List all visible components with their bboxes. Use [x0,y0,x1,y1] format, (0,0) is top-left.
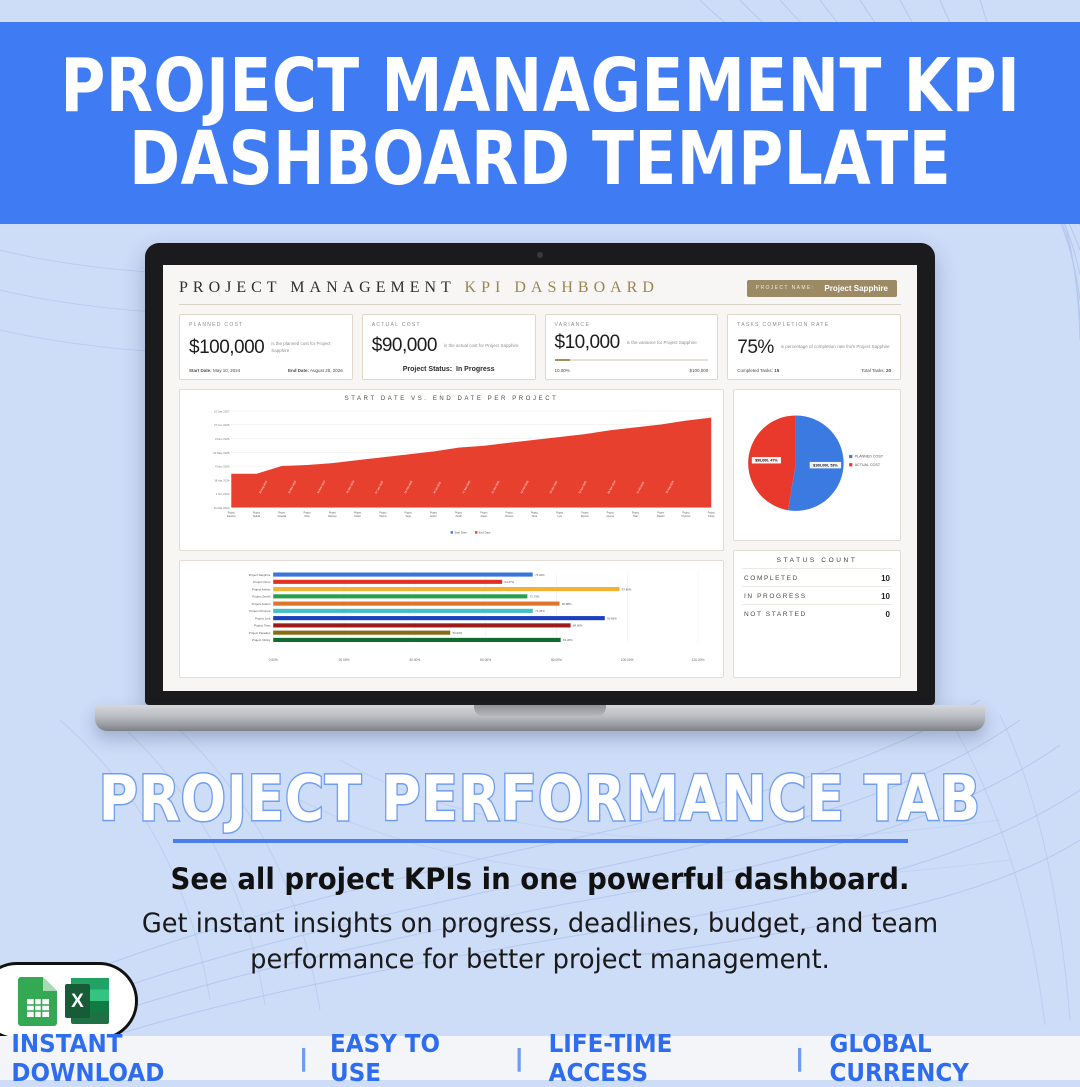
status-count: 10 [881,592,890,601]
svg-text:Olympus: Olympus [682,516,692,518]
subtagline: Get instant insights on progress, deadli… [27,906,1053,977]
svg-text:1 Oct 2023: 1 Oct 2023 [216,492,230,496]
svg-text:Project: Project [607,511,614,514]
status-count: 10 [881,574,890,583]
project-name-badge[interactable]: PROJECT NAME: Project Sapphire [747,280,897,297]
footer-separator: | [300,1044,307,1073]
kpi-value-row: 75% is percentage of completion rate fro… [737,331,891,364]
svg-text:84.00%: 84.00% [573,624,583,628]
kpi-card-tasks-completion-rate: TASKS COMPLETION RATE 75% is percentage … [727,314,901,380]
title-divider [179,304,901,305]
end-date-group: End Date: August 25, 2026 [288,368,343,373]
total-tasks-label: Total Tasks: [861,368,884,373]
svg-text:80.88%: 80.88% [562,602,572,606]
header-title-line-1: PROJECT MANAGEMENT KPI [60,50,1020,123]
kpi-card-planned-cost: PLANNED COST $100,000 is the planned cos… [179,314,353,380]
status-row-in-progress: IN PROGRESS 10 [742,586,892,604]
svg-text:Titan: Titan [633,515,639,518]
end-date-label: End Date: [288,368,309,373]
footer-bar: INSTANT DOWNLOAD | EASY TO USE | LIFE-TI… [0,1036,1080,1080]
variance-progress-fill [555,359,570,361]
kpi-value: $10,000 [555,332,620,354]
svg-text:Falcon: Falcon [354,516,361,518]
laptop-base [95,705,985,731]
header-banner: PROJECT MANAGEMENT KPI DASHBOARD TEMPLAT… [0,22,1080,224]
svg-text:Aether: Aether [430,515,437,518]
variance-progress-bar [555,359,709,361]
svg-text:71.79%: 71.79% [530,595,540,599]
kpi-value-row: $100,000 is the planned cost for Project… [189,331,343,364]
tagline: See all project KPIs in one powerful das… [27,862,1053,896]
svg-text:Nova: Nova [532,516,538,518]
svg-text:Project: Project [455,511,462,514]
kpi-footer: Start Date: May 10, 2024 End Date: Augus… [189,368,343,373]
svg-text:Project Infinity: Project Infinity [252,638,271,642]
svg-text:Sapphire: Sapphire [227,515,237,518]
kpi-label: PLANNED COST [189,322,343,328]
svg-text:100.00%: 100.00% [621,658,634,662]
total-tasks-group: Total Tasks: 20 [861,368,891,373]
svg-text:15 Jan 2027: 15 Jan 2027 [214,409,230,413]
svg-text:Project: Project [581,511,588,514]
google-sheets-icon [15,975,61,1027]
completed-tasks-label: Completed Tasks: [737,368,773,373]
svg-text:Project: Project [329,511,336,514]
footer-separator: | [516,1044,523,1073]
excel-icon: X [65,975,113,1027]
svg-text:Project Zenith: Project Zenith [252,595,270,599]
svg-text:Orion: Orion [304,515,310,518]
performance-tab-underline [173,839,908,843]
laptop-screen: PROJECT MANAGEMENT KPI DASHBOARD PROJECT… [163,265,917,691]
kpi-footer: 10.00% $100,000 [555,368,709,373]
laptop-lid: PROJECT MANAGEMENT KPI DASHBOARD PROJECT… [145,243,935,705]
area-chart-title: START DATE VS. END DATE PER PROJECT [188,396,715,402]
svg-text:73.33%: 73.33% [535,609,545,613]
svg-text:73.30%: 73.30% [535,573,545,577]
footer-item-instant-download: INSTANT DOWNLOAD [11,1029,272,1087]
svg-text:40.00%: 40.00% [409,658,420,662]
kpi-label: ACTUAL COST [372,322,526,328]
svg-text:80.00%: 80.00% [551,658,562,662]
svg-text:Artemis: Artemis [606,515,614,518]
svg-text:97.80%: 97.80% [622,587,632,591]
pie-chart-svg: $100,000, 53%$90,000, 47%PLANNED COSTACT… [739,395,895,535]
svg-text:20.00%: 20.00% [339,658,350,662]
svg-text:Project: Project [708,511,715,514]
svg-text:Elysium: Elysium [581,516,589,518]
laptop-notch [474,705,606,716]
status-row-completed: COMPLETED 10 [742,568,892,586]
svg-text:Project: Project [228,511,235,514]
status-name: COMPLETED [744,575,799,582]
svg-text:Lyra: Lyra [558,515,563,518]
svg-text:Project: Project [480,511,487,514]
svg-text:Project: Project [253,511,260,514]
kpi-label: TASKS COMPLETION RATE [737,322,891,328]
kpi-value-row: $10,000 is the variance for Project Sapp… [555,331,709,355]
kpi-footer: Completed Tasks: 15 Total Tasks: 20 [737,368,891,373]
pie-chart-panel: $100,000, 53%$90,000, 47%PLANNED COSTACT… [733,389,901,541]
kpi-description: is the actual cost for Project Sapphire [444,343,519,350]
svg-text:Project Avalon: Project Avalon [252,602,271,606]
status-row-not-started: NOT STARTED 0 [742,604,892,622]
svg-text:End Date: End Date [479,530,491,534]
svg-text:Chronos: Chronos [505,515,514,518]
project-status-row: Project Status: In Progress [372,366,526,373]
svg-text:50.00%: 50.00% [453,631,463,635]
dashboard-title-main: PROJECT MANAGEMENT [179,279,465,296]
svg-text:Project Chronos: Project Chronos [249,609,271,613]
area-chart-svg: 15 Jan 202727 Jun 20269 Dec 202523 May 2… [188,405,715,543]
svg-text:Project: Project [278,511,285,514]
project-status-label: Project Status: [403,366,452,373]
svg-text:Project: Project [632,511,639,514]
svg-text:Celestial: Celestial [278,515,287,518]
svg-text:Project: Project [430,511,437,514]
kpi-card-actual-cost: ACTUAL COST $90,000 is the actual cost f… [362,314,536,380]
svg-text:Paladin: Paladin [657,516,665,518]
footer-item-global-currency: GLOBAL CURRENCY [830,1029,1070,1087]
svg-text:Project: Project [506,511,513,514]
kpi-card-row: PLANNED COST $100,000 is the planned cos… [179,314,901,380]
webcam-icon [537,252,543,258]
subtagline-line-2: performance for better project managemen… [27,942,1053,978]
performance-tab-heading: PROJECT PERFORMANCE TAB [0,762,1080,843]
svg-text:Project: Project [657,511,664,514]
svg-text:$100,000, 53%: $100,000, 53% [813,464,838,468]
kpi-value: $100,000 [189,337,264,359]
bar-chart-svg: 0.00%20.00%40.00%60.00%80.00%100.00%120.… [186,567,717,673]
footer-item-easy-to-use: EASY TO USE [330,1029,492,1087]
variance-percent: 10.00% [555,368,570,373]
status-count-title: STATUS COUNT [742,557,892,564]
subtagline-line-1: Get instant insights on progress, deadli… [27,906,1053,942]
svg-text:X: X [71,991,84,1012]
start-date-value: May 10, 2024 [213,368,240,373]
svg-text:18 Apr 2024: 18 Apr 2024 [214,478,230,482]
status-count-panel: STATUS COUNT COMPLETED 10 IN PROGRESS 10… [733,550,901,678]
svg-text:Zenith: Zenith [456,515,463,518]
svg-text:93.65%: 93.65% [607,616,617,620]
svg-text:23 May 2025: 23 May 2025 [213,451,230,455]
svg-text:Nebula: Nebula [253,516,261,518]
performance-tab-title: PROJECT PERFORMANCE TAB [99,762,981,835]
area-chart-panel: START DATE VS. END DATE PER PROJECT 15 J… [179,389,724,551]
svg-text:Project Lyra: Project Lyra [255,616,271,620]
svg-text:$90,000, 47%: $90,000, 47% [755,459,778,463]
svg-text:Titanus: Titanus [379,515,387,518]
svg-text:Odyssey: Odyssey [328,516,338,518]
start-date-label: Start Date: [189,368,212,373]
svg-text:27 Jun 2026: 27 Jun 2026 [214,423,230,427]
svg-text:Project: Project [556,511,563,514]
project-name-value: Project Sapphire [824,284,888,293]
svg-text:PLANNED COST: PLANNED COST [855,455,884,459]
end-date-value: August 25, 2026 [310,368,343,373]
svg-text:9 Dec 2025: 9 Dec 2025 [215,437,230,441]
completed-tasks-group: Completed Tasks: 15 [737,368,779,373]
total-tasks-value: 20 [886,368,891,373]
completed-tasks-value: 15 [774,368,779,373]
charts-region: START DATE VS. END DATE PER PROJECT 15 J… [179,389,901,678]
variance-total: $100,000 [689,368,708,373]
svg-text:Start Date: Start Date [454,530,467,534]
svg-text:Project: Project [354,511,361,514]
svg-text:15 Mar 2023: 15 Mar 2023 [214,506,230,510]
footer-separator: | [796,1044,803,1073]
kpi-description: is percentage of completion rate from Pr… [781,344,890,351]
dashboard-root: PROJECT MANAGEMENT KPI DASHBOARD PROJECT… [163,265,917,691]
project-status-value: In Progress [456,366,495,373]
svg-text:ACTUAL COST: ACTUAL COST [855,463,881,467]
svg-text:60.00%: 60.00% [480,658,491,662]
header-title-line-2: DASHBOARD TEMPLATE [129,123,951,196]
svg-text:Project Orion: Project Orion [253,580,270,584]
status-name: IN PROGRESS [744,593,807,600]
kpi-value: $90,000 [372,335,437,357]
svg-text:Project: Project [531,511,538,514]
svg-text:Project: Project [405,511,412,514]
kpi-card-variance: VARIANCE $10,000 is the variance for Pro… [545,314,719,380]
svg-text:0.00%: 0.00% [269,658,278,662]
svg-text:Project Paradiso: Project Paradiso [249,631,271,635]
kpi-value-row: $90,000 is the actual cost for Project S… [372,331,526,361]
footer-item-life-time-access: LIFE-TIME ACCESS [548,1029,770,1087]
svg-text:Infinity: Infinity [708,515,715,518]
dashboard-title-accent: KPI DASHBOARD [465,279,659,296]
dashboard-header-row: PROJECT MANAGEMENT KPI DASHBOARD PROJECT… [179,279,901,297]
svg-text:Avalon: Avalon [480,515,488,518]
kpi-label: VARIANCE [555,322,709,328]
status-name: NOT STARTED [744,611,807,618]
status-count: 0 [886,610,890,619]
svg-text:Project Titan: Project Titan [254,624,271,628]
dashboard-title: PROJECT MANAGEMENT KPI DASHBOARD [179,279,659,297]
kpi-description: is the planned cost for Project Sapphire [271,341,343,355]
svg-text:Project: Project [682,511,689,514]
svg-text:Project Sapphire: Project Sapphire [249,573,271,577]
kpi-description: is the variance for Project Sapphire [627,340,697,347]
svg-text:Vega: Vega [406,516,412,518]
svg-text:64.67%: 64.67% [505,580,515,584]
svg-text:4 Nov 2024: 4 Nov 2024 [215,465,230,469]
charts-left-column: START DATE VS. END DATE PER PROJECT 15 J… [179,389,724,678]
svg-text:81.20%: 81.20% [563,638,573,642]
svg-text:Project Aether: Project Aether [252,587,270,591]
kpi-value: 75% [737,337,774,359]
svg-text:120.00%: 120.00% [692,658,705,662]
project-name-label: PROJECT NAME: [756,285,815,291]
svg-text:Project: Project [379,511,386,514]
start-date-group: Start Date: May 10, 2024 [189,368,240,373]
svg-text:Project: Project [304,511,311,514]
bar-chart-panel: 0.00%20.00%40.00%60.00%80.00%100.00%120.… [179,560,724,678]
laptop-mockup: PROJECT MANAGEMENT KPI DASHBOARD PROJECT… [145,243,935,731]
charts-right-column: $100,000, 53%$90,000, 47%PLANNED COSTACT… [733,389,901,678]
